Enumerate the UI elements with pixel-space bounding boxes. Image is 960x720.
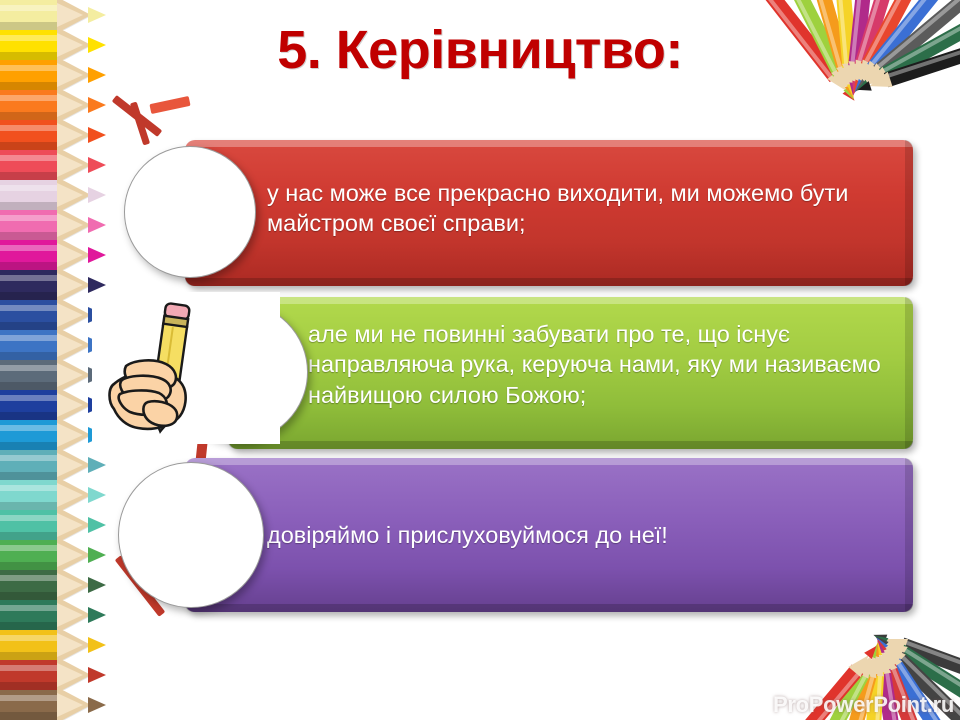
bar-bevel-top — [185, 458, 913, 465]
pencil-icon — [0, 30, 118, 60]
pencil-icon — [832, 0, 860, 98]
pencil-icon — [0, 690, 118, 720]
callout-text-3: довіряймо і прислуховуймося до неї! — [267, 520, 887, 550]
pencil-icon — [853, 11, 960, 97]
pencil-icon — [848, 0, 954, 97]
pencil-icon — [804, 0, 860, 101]
callout-bar-purple[interactable]: довіряймо і прислуховуймося до неї! — [185, 458, 913, 612]
pencil-icon — [0, 120, 118, 150]
pencil-icon — [0, 90, 118, 120]
bar-bevel-right — [905, 140, 913, 286]
pencil-icon — [0, 510, 118, 540]
callout-text-1: у нас може все прекрасно виходити, ми мо… — [267, 178, 877, 239]
pencil-icon — [0, 630, 118, 660]
slide-canvas: 5. Керівництво: у нас може все прекрасно… — [0, 0, 960, 720]
pencil-icon — [0, 600, 118, 630]
pencil-icon — [0, 540, 118, 570]
hand-holding-pencil-icon — [92, 292, 280, 444]
bar-bevel-bottom — [185, 604, 913, 612]
pencil-icon — [846, 0, 904, 96]
clipart-card — [92, 292, 280, 444]
pencil-icon — [0, 240, 118, 270]
pencil-icon — [0, 450, 118, 480]
callout-circle-1[interactable] — [124, 146, 256, 278]
callout-bar-red[interactable]: у нас може все прекрасно виходити, ми мо… — [185, 140, 913, 286]
callout-circle-3[interactable] — [118, 462, 264, 608]
bar-bevel-right — [905, 458, 913, 612]
bar-bevel-top — [185, 140, 913, 147]
callout-bar-green[interactable]: але ми не повинні забувати про те, що іс… — [228, 297, 913, 449]
pencil-icon — [0, 210, 118, 240]
pencil-icon — [847, 0, 931, 97]
pencil-icon — [0, 60, 118, 90]
pencil-icon — [0, 660, 118, 690]
pencil-icon — [850, 0, 960, 96]
bar-bevel-top — [228, 297, 913, 304]
bar-bevel-bottom — [185, 278, 913, 286]
pencil-icon — [0, 0, 118, 30]
bar-bevel-right — [905, 297, 913, 449]
pencil-icon — [855, 36, 960, 97]
pencil-icon — [0, 570, 118, 600]
pencil-icon — [0, 150, 118, 180]
decor-stroke-icon — [149, 96, 190, 114]
callout-text-2: але ми не повинні забувати про те, що іс… — [308, 319, 898, 410]
pencil-icon — [845, 0, 876, 97]
bar-bevel-bottom — [228, 441, 913, 449]
pencil-icon — [0, 480, 118, 510]
pencil-icon — [0, 180, 118, 210]
pencil-icon — [871, 627, 960, 692]
page-title: 5. Керівництво: — [160, 22, 800, 79]
watermark: ProPowerPoint.ru — [773, 692, 954, 718]
